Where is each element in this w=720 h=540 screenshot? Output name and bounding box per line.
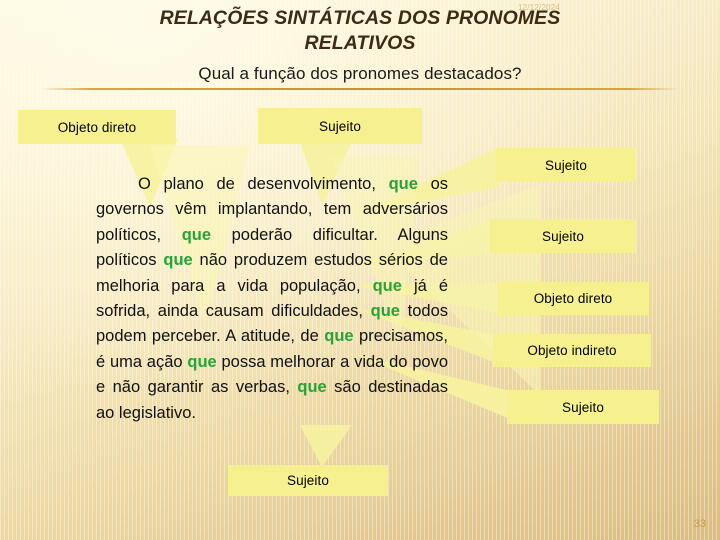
callout-label: Objeto direto [58,120,137,135]
presentation-slide: RELAÇÕES SINTÁTICAS DOS PRONOMES RELATIV… [0,0,720,540]
callout-label: Sujeito [545,158,587,173]
callout-sujeito-right-3: Sujeito [507,390,659,424]
callout-sujeito-top: Sujeito [258,108,422,144]
body-paragraph: O plano de desenvolvimento, que os gover… [96,172,448,426]
header-divider [40,88,680,90]
callout-label: Objeto indireto [527,343,616,358]
timestamp-overlay: 12/12/2024 [518,3,560,12]
highlighted-pronoun: que [297,378,326,396]
callout-label: Objeto direto [534,291,613,306]
connector-tail-sujeito-bottom [300,425,352,467]
page-title-line-1: RELAÇÕES SINTÁTICAS DOS PRONOMES [0,6,720,31]
callout-objeto-indireto: Objeto indireto [493,334,651,367]
callout-sujeito-right-2: Sujeito [490,219,636,253]
title-block: RELAÇÕES SINTÁTICAS DOS PRONOMES RELATIV… [0,6,720,56]
highlighted-pronoun: que [324,327,353,345]
callout-label: Sujeito [287,473,329,488]
subtitle-question: Qual a função dos pronomes destacados? [0,64,720,84]
callout-objeto-direto-left: Objeto direto [18,110,176,144]
page-number: 33 [694,518,706,530]
highlighted-pronoun: que [187,353,216,371]
callout-sujeito-bottom: Sujeito [228,465,388,496]
highlighted-pronoun: que [182,226,211,244]
callout-sujeito-right-1: Sujeito [496,148,636,182]
highlighted-pronoun: que [373,277,402,295]
callout-label: Sujeito [319,119,361,134]
callout-objeto-direto-right: Objeto direto [497,282,649,315]
body-text-segment: O plano de desenvolvimento, [138,175,389,193]
highlighted-pronoun: que [371,302,400,320]
page-title-line-2: RELATIVOS [0,31,720,56]
callout-label: Sujeito [562,400,604,415]
highlighted-pronoun: que [389,175,418,193]
highlighted-pronoun: que [163,251,192,269]
callout-label: Sujeito [542,229,584,244]
